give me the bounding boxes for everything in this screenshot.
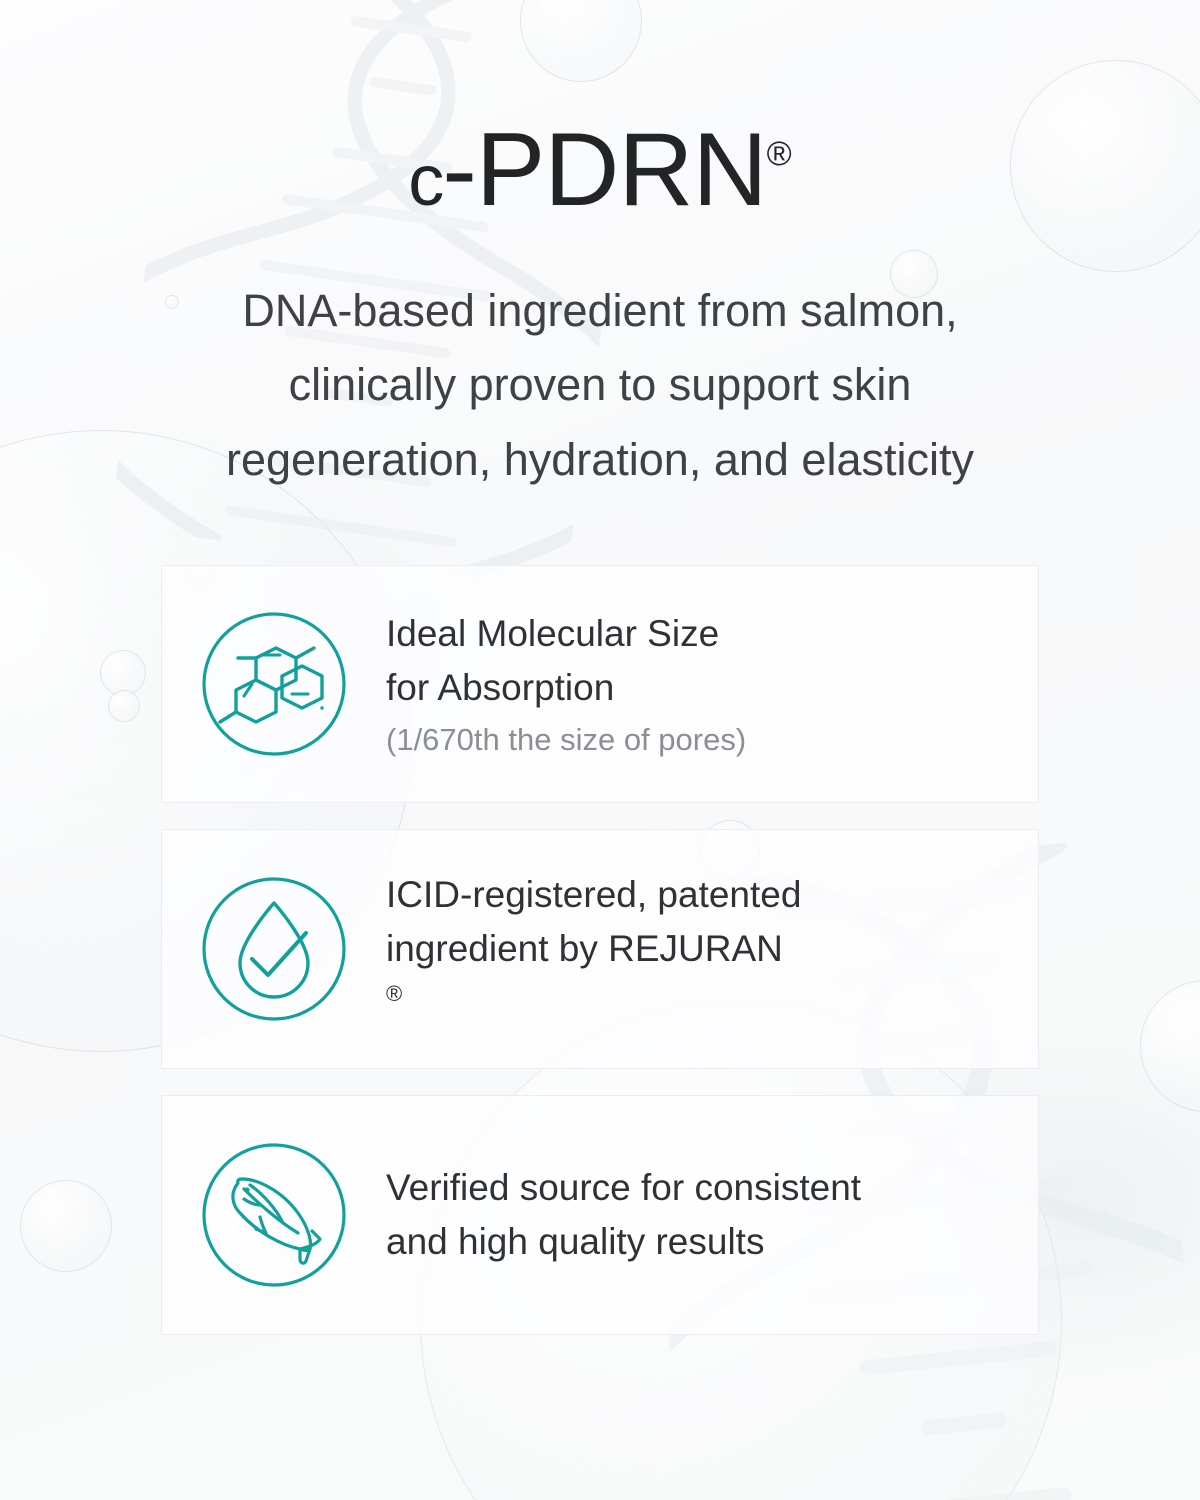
feature-title-line-2: and high quality results: [386, 1215, 1010, 1269]
feature-card-text: ICID-registered, patented ingredient by …: [348, 868, 1010, 1029]
subtitle-line-3: regeneration, hydration, and elasticity: [0, 423, 1200, 497]
registered-trademark-icon: ®: [386, 981, 402, 1006]
bubble-shape: [100, 650, 146, 696]
feature-card-title: Verified source for consistent and high …: [386, 1161, 1010, 1268]
subtitle-line-1: DNA-based ingredient from salmon,: [0, 274, 1200, 348]
feature-card: ICID-registered, patented ingredient by …: [161, 829, 1039, 1069]
feature-title-line-2-text: ingredient by REJURAN: [386, 922, 1010, 976]
page-header: c-PDRN® DNA-based ingredient from salmon…: [0, 0, 1200, 497]
promo-page: c-PDRN® DNA-based ingredient from salmon…: [0, 0, 1200, 1500]
bubble-shape: [20, 1180, 112, 1272]
page-title: c-PDRN®: [0, 118, 1200, 222]
page-subtitle: DNA-based ingredient from salmon, clinic…: [0, 274, 1200, 497]
droplet-check-icon: [200, 875, 348, 1023]
feature-card-title: Ideal Molecular Size for Absorption: [386, 607, 1010, 714]
feature-title-line-1: Ideal Molecular Size: [386, 607, 1010, 661]
feature-card-text: Verified source for consistent and high …: [348, 1161, 1010, 1268]
subtitle-line-2: clinically proven to support skin: [0, 348, 1200, 422]
feature-card: Verified source for consistent and high …: [161, 1095, 1039, 1335]
feature-card-text: Ideal Molecular Size for Absorption (1/6…: [348, 607, 1010, 761]
brand-lead-letter: c: [408, 141, 442, 221]
fish-icon: [200, 1141, 348, 1289]
feature-title-line-2: for Absorption: [386, 661, 1010, 715]
feature-title-line-2: ingredient by REJURAN®: [386, 922, 1010, 1029]
feature-card-title: ICID-registered, patented ingredient by …: [386, 868, 1010, 1029]
brand-main-text: -PDRN: [442, 112, 766, 228]
feature-card-list: Ideal Molecular Size for Absorption (1/6…: [161, 497, 1039, 1335]
feature-card: Ideal Molecular Size for Absorption (1/6…: [161, 565, 1039, 803]
feature-card-subtext: (1/670th the size of pores): [386, 720, 1010, 760]
feature-title-line-1: Verified source for consistent: [386, 1161, 1010, 1215]
registered-trademark-icon: ®: [767, 135, 792, 173]
bubble-shape: [108, 690, 140, 722]
feature-title-line-1: ICID-registered, patented: [386, 868, 1010, 922]
bubble-shape: [1140, 980, 1200, 1112]
molecule-icon: [200, 610, 348, 758]
